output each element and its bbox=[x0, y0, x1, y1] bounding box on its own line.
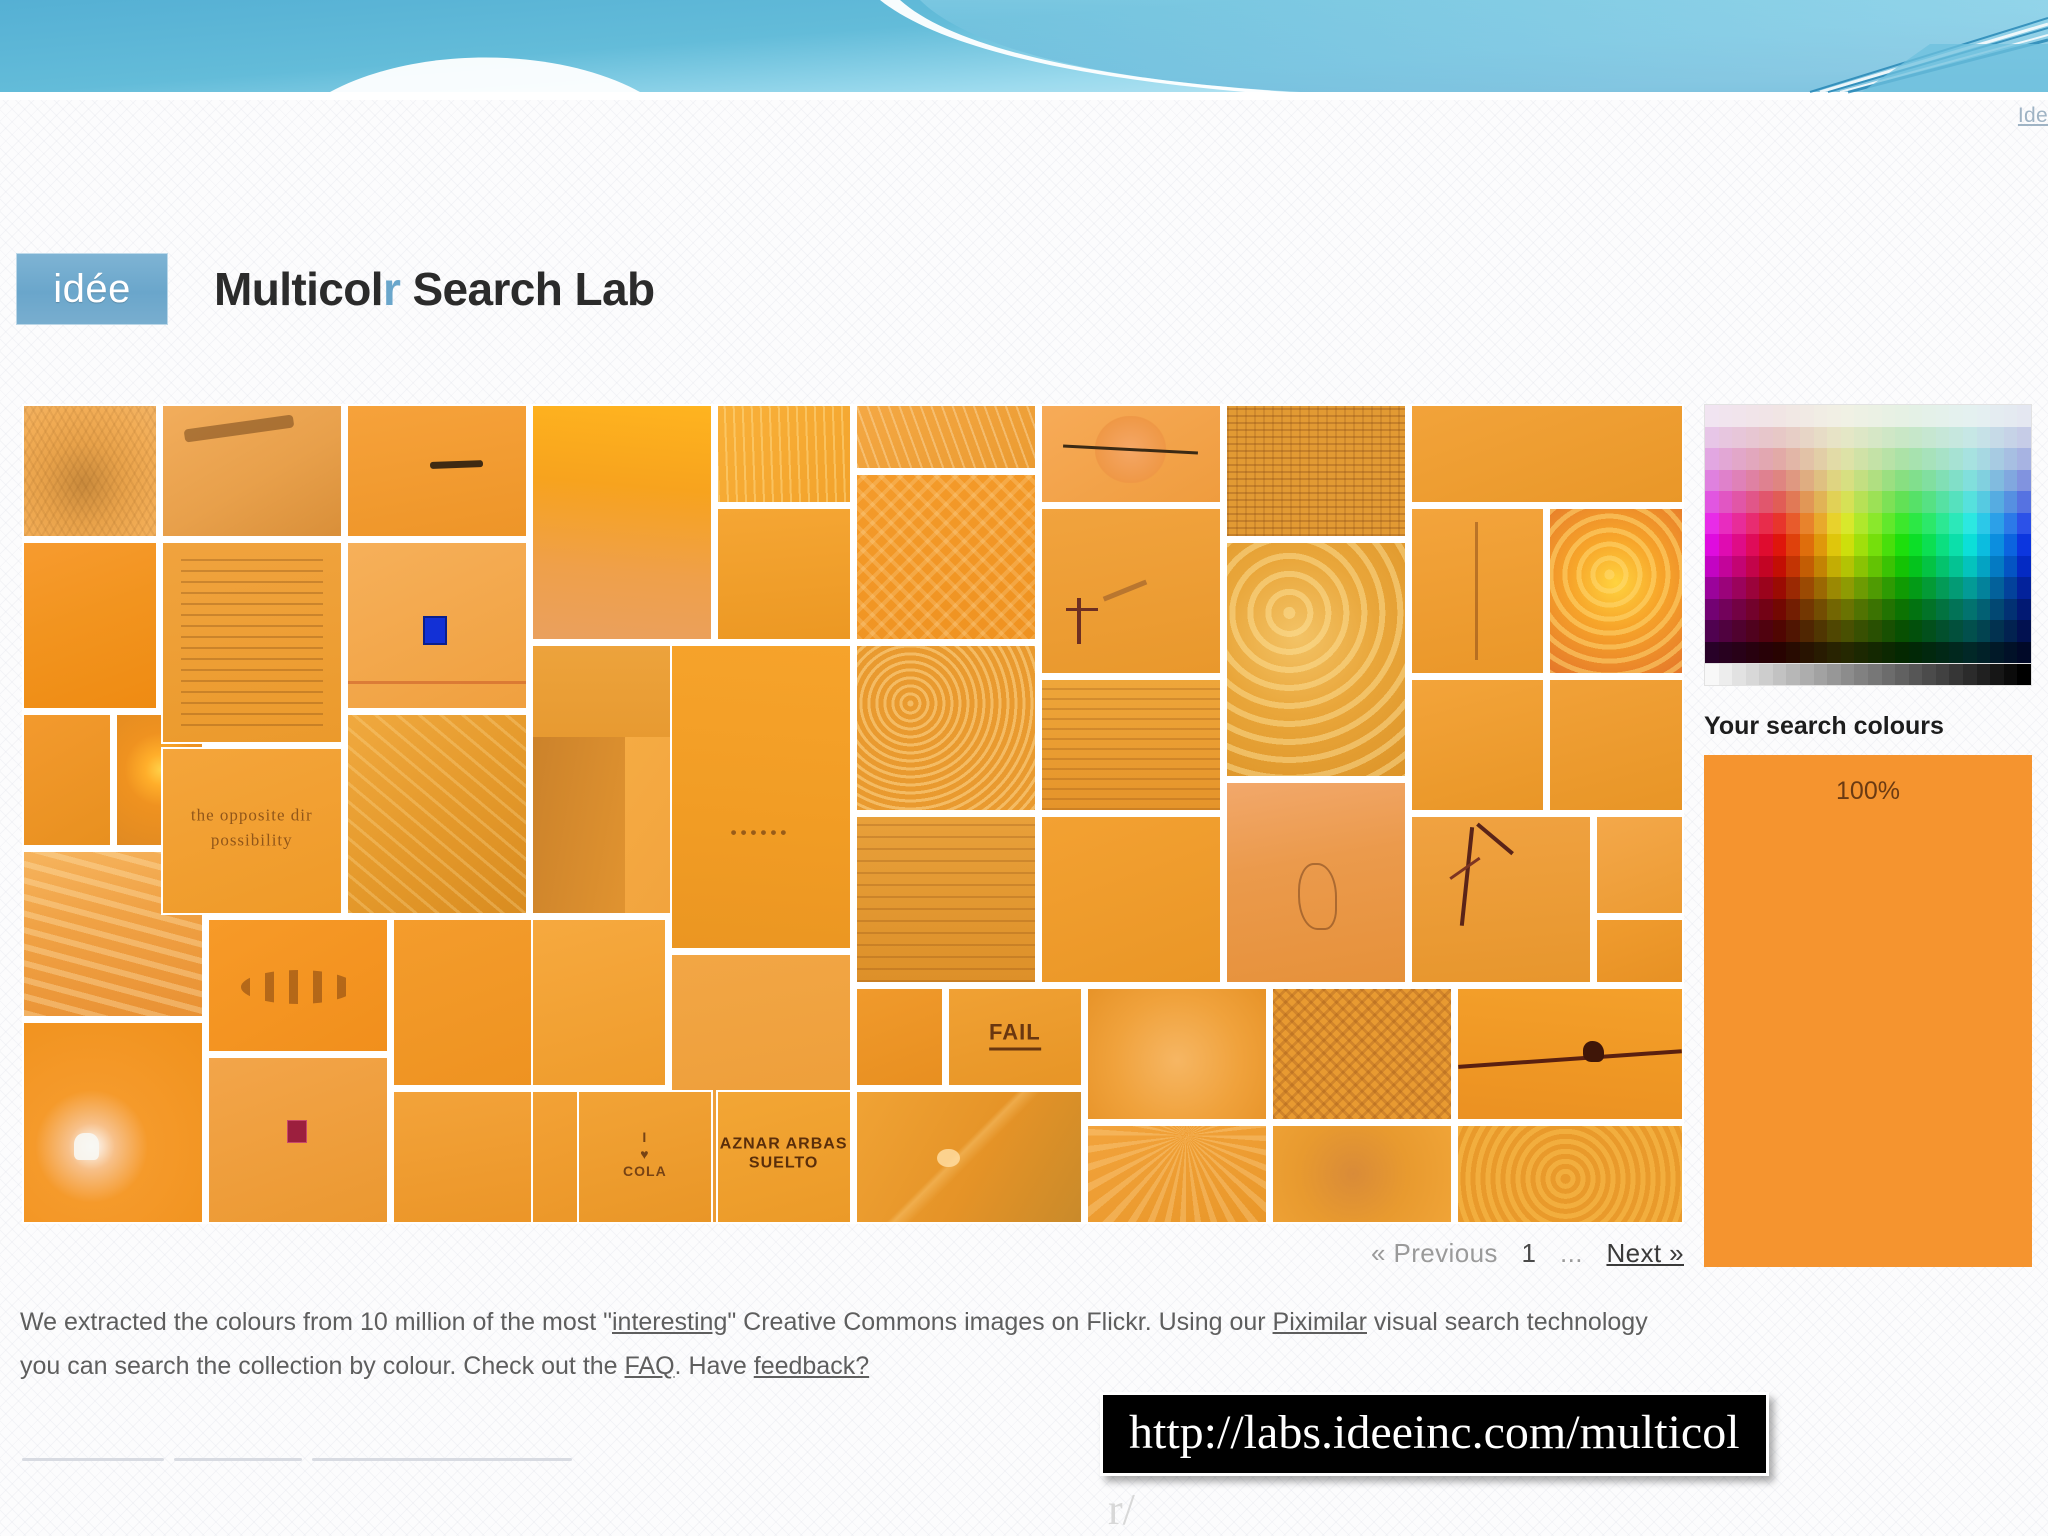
palette-swatch[interactable] bbox=[1841, 642, 1855, 664]
palette-swatch[interactable] bbox=[1854, 405, 1868, 427]
palette-swatch[interactable] bbox=[1786, 577, 1800, 599]
palette-swatch[interactable] bbox=[1854, 448, 1868, 470]
palette-swatch[interactable] bbox=[1814, 405, 1828, 427]
palette-swatch[interactable] bbox=[2004, 405, 2018, 427]
palette-swatch[interactable] bbox=[1868, 448, 1882, 470]
palette-swatch[interactable] bbox=[1786, 642, 1800, 664]
palette-swatch[interactable] bbox=[1936, 577, 1950, 599]
palette-swatch[interactable] bbox=[1759, 577, 1773, 599]
result-tile[interactable] bbox=[1410, 404, 1685, 504]
palette-swatch[interactable] bbox=[1786, 534, 1800, 556]
palette-swatch[interactable] bbox=[1936, 427, 1950, 449]
palette-swatch[interactable] bbox=[1841, 405, 1855, 427]
palette-swatch[interactable] bbox=[1963, 534, 1977, 556]
palette-swatch[interactable] bbox=[1977, 556, 1991, 578]
palette-swatch[interactable] bbox=[1868, 642, 1882, 664]
palette-swatch[interactable] bbox=[1882, 577, 1896, 599]
palette-swatch[interactable] bbox=[1909, 577, 1923, 599]
palette-swatch[interactable] bbox=[1854, 491, 1868, 513]
palette-swatch[interactable] bbox=[1936, 513, 1950, 535]
result-tile[interactable] bbox=[1040, 507, 1222, 675]
palette-swatch[interactable] bbox=[1854, 556, 1868, 578]
palette-swatch[interactable] bbox=[1841, 491, 1855, 513]
gray-swatch[interactable] bbox=[1732, 664, 1746, 685]
palette-swatch[interactable] bbox=[1936, 448, 1950, 470]
palette-swatch[interactable] bbox=[1841, 620, 1855, 642]
palette-swatch[interactable] bbox=[1868, 599, 1882, 621]
palette-swatch[interactable] bbox=[1719, 599, 1733, 621]
palette-swatch[interactable] bbox=[1732, 448, 1746, 470]
result-tile[interactable] bbox=[22, 713, 112, 847]
gray-swatch[interactable] bbox=[1705, 664, 1719, 685]
palette-swatch[interactable] bbox=[1909, 491, 1923, 513]
palette-swatch[interactable] bbox=[1773, 620, 1787, 642]
palette-swatch[interactable] bbox=[2004, 427, 2018, 449]
palette-swatch[interactable] bbox=[1990, 491, 2004, 513]
palette-swatch[interactable] bbox=[2017, 513, 2031, 535]
palette-swatch[interactable] bbox=[1922, 470, 1936, 492]
palette-swatch[interactable] bbox=[1773, 556, 1787, 578]
result-tile[interactable]: FAIL bbox=[947, 987, 1083, 1087]
palette-swatch[interactable] bbox=[1827, 620, 1841, 642]
palette-swatch[interactable] bbox=[1936, 534, 1950, 556]
palette-swatch[interactable] bbox=[1963, 405, 1977, 427]
palette-swatch[interactable] bbox=[1800, 448, 1814, 470]
palette-swatch[interactable] bbox=[1719, 491, 1733, 513]
result-tile[interactable] bbox=[855, 473, 1037, 641]
palette-swatch[interactable] bbox=[1909, 470, 1923, 492]
palette-swatch[interactable] bbox=[1827, 448, 1841, 470]
palette-swatch[interactable] bbox=[1786, 448, 1800, 470]
palette-swatch[interactable] bbox=[1868, 491, 1882, 513]
palette-swatch[interactable] bbox=[1841, 513, 1855, 535]
palette-swatch[interactable] bbox=[1990, 427, 2004, 449]
palette-swatch[interactable] bbox=[1895, 470, 1909, 492]
palette-swatch[interactable] bbox=[1949, 556, 1963, 578]
result-tile[interactable] bbox=[1040, 815, 1222, 983]
palette-swatch[interactable] bbox=[1746, 448, 1760, 470]
result-tile[interactable] bbox=[207, 918, 389, 1052]
palette-swatch[interactable] bbox=[1882, 448, 1896, 470]
palette-swatch[interactable] bbox=[1800, 642, 1814, 664]
palette-swatch[interactable] bbox=[1868, 405, 1882, 427]
palette-swatch[interactable] bbox=[1759, 405, 1773, 427]
palette-swatch[interactable] bbox=[2017, 620, 2031, 642]
palette-swatch[interactable] bbox=[1719, 620, 1733, 642]
palette-swatch[interactable] bbox=[1854, 577, 1868, 599]
gray-swatch[interactable] bbox=[2017, 664, 2031, 685]
result-tile[interactable]: the opposite dir possibility bbox=[161, 747, 343, 915]
topright-cutoff-link[interactable]: Ide bbox=[2018, 104, 2048, 128]
palette-swatch[interactable] bbox=[1759, 470, 1773, 492]
result-tile[interactable] bbox=[22, 541, 158, 709]
palette-swatch[interactable] bbox=[1909, 599, 1923, 621]
palette-swatch[interactable] bbox=[1882, 642, 1896, 664]
result-tile[interactable] bbox=[161, 404, 343, 538]
palette-swatch[interactable] bbox=[1868, 470, 1882, 492]
palette-swatch[interactable] bbox=[1909, 642, 1923, 664]
palette-swatch[interactable] bbox=[1895, 427, 1909, 449]
gray-swatch[interactable] bbox=[1963, 664, 1977, 685]
palette-swatch[interactable] bbox=[1841, 556, 1855, 578]
palette-swatch[interactable] bbox=[1895, 620, 1909, 642]
palette-swatch[interactable] bbox=[1814, 470, 1828, 492]
result-tile[interactable] bbox=[1271, 987, 1453, 1121]
palette-swatch[interactable] bbox=[1719, 556, 1733, 578]
palette-swatch[interactable] bbox=[1990, 577, 2004, 599]
palette-swatch[interactable] bbox=[1800, 577, 1814, 599]
palette-swatch[interactable] bbox=[1963, 491, 1977, 513]
palette-swatch[interactable] bbox=[1949, 534, 1963, 556]
palette-swatch[interactable] bbox=[1895, 448, 1909, 470]
palette-swatch[interactable] bbox=[1949, 513, 1963, 535]
link-feedback[interactable]: feedback? bbox=[754, 1352, 869, 1380]
gray-swatch[interactable] bbox=[1977, 664, 1991, 685]
palette-swatch[interactable] bbox=[1773, 642, 1787, 664]
palette-swatch[interactable] bbox=[1827, 427, 1841, 449]
palette-swatch[interactable] bbox=[1732, 405, 1746, 427]
palette-swatch[interactable] bbox=[1854, 599, 1868, 621]
palette-swatch[interactable] bbox=[1827, 599, 1841, 621]
palette-swatch[interactable] bbox=[2017, 470, 2031, 492]
palette-swatch[interactable] bbox=[1841, 599, 1855, 621]
palette-swatch[interactable] bbox=[1759, 534, 1773, 556]
palette-swatch[interactable] bbox=[1732, 534, 1746, 556]
palette-swatch[interactable] bbox=[1909, 534, 1923, 556]
result-tile[interactable] bbox=[1410, 678, 1546, 812]
palette-swatch[interactable] bbox=[1786, 491, 1800, 513]
gray-swatch[interactable] bbox=[1719, 664, 1733, 685]
link-piximilar[interactable]: Piximilar bbox=[1273, 1308, 1367, 1336]
idee-logo[interactable]: idée bbox=[16, 253, 168, 325]
palette-swatch[interactable] bbox=[1773, 534, 1787, 556]
result-tile[interactable] bbox=[855, 987, 945, 1087]
palette-swatch[interactable] bbox=[1746, 513, 1760, 535]
palette-swatch[interactable] bbox=[1759, 448, 1773, 470]
palette-swatch[interactable] bbox=[2017, 577, 2031, 599]
gray-swatch[interactable] bbox=[1936, 664, 1950, 685]
palette-swatch[interactable] bbox=[1990, 405, 2004, 427]
palette-swatch[interactable] bbox=[1732, 491, 1746, 513]
palette-swatch[interactable] bbox=[2004, 534, 2018, 556]
result-tile[interactable] bbox=[1225, 781, 1407, 984]
result-tile[interactable] bbox=[161, 541, 343, 744]
result-tile[interactable] bbox=[1548, 507, 1684, 675]
palette-swatch[interactable] bbox=[2004, 556, 2018, 578]
gray-swatch[interactable] bbox=[1882, 664, 1896, 685]
palette-swatch[interactable] bbox=[1800, 405, 1814, 427]
palette-swatch[interactable] bbox=[1963, 556, 1977, 578]
palette-swatch[interactable] bbox=[1977, 599, 1991, 621]
palette-swatch[interactable] bbox=[1705, 448, 1719, 470]
result-tile[interactable] bbox=[1225, 404, 1407, 538]
palette-swatch[interactable] bbox=[1746, 470, 1760, 492]
palette-swatch[interactable] bbox=[1990, 642, 2004, 664]
palette-swatch[interactable] bbox=[1800, 534, 1814, 556]
palette-swatch[interactable] bbox=[1732, 556, 1746, 578]
palette-swatch[interactable] bbox=[1895, 405, 1909, 427]
palette-swatch[interactable] bbox=[1977, 534, 1991, 556]
palette-swatch[interactable] bbox=[1977, 513, 1991, 535]
palette-swatch[interactable] bbox=[1949, 405, 1963, 427]
palette-swatch[interactable] bbox=[1949, 620, 1963, 642]
palette-swatch[interactable] bbox=[1705, 470, 1719, 492]
palette-swatch[interactable] bbox=[1895, 599, 1909, 621]
palette-swatch[interactable] bbox=[1909, 448, 1923, 470]
palette-swatch[interactable] bbox=[1719, 470, 1733, 492]
gray-swatch[interactable] bbox=[1786, 664, 1800, 685]
palette-swatch[interactable] bbox=[1854, 620, 1868, 642]
palette-swatch[interactable] bbox=[1868, 556, 1882, 578]
palette-swatch[interactable] bbox=[1895, 513, 1909, 535]
palette-swatch[interactable] bbox=[1759, 513, 1773, 535]
palette-swatch[interactable] bbox=[2004, 642, 2018, 664]
palette-swatch[interactable] bbox=[1949, 491, 1963, 513]
grayscale-strip[interactable] bbox=[1704, 664, 2032, 686]
result-tile[interactable] bbox=[1595, 815, 1685, 915]
result-tile[interactable] bbox=[1040, 404, 1222, 504]
palette-swatch[interactable] bbox=[1732, 620, 1746, 642]
palette-swatch[interactable] bbox=[1732, 599, 1746, 621]
result-tile[interactable] bbox=[716, 404, 852, 504]
palette-swatch[interactable] bbox=[1977, 470, 1991, 492]
palette-swatch[interactable] bbox=[1922, 448, 1936, 470]
palette-swatch[interactable] bbox=[1719, 427, 1733, 449]
palette-swatch[interactable] bbox=[1882, 405, 1896, 427]
palette-swatch[interactable] bbox=[1759, 642, 1773, 664]
palette-swatch[interactable] bbox=[1800, 556, 1814, 578]
palette-swatch[interactable] bbox=[1990, 513, 2004, 535]
palette-swatch[interactable] bbox=[1868, 513, 1882, 535]
result-tile[interactable] bbox=[855, 1090, 1083, 1224]
result-tile[interactable] bbox=[1456, 987, 1684, 1121]
gray-swatch[interactable] bbox=[1949, 664, 1963, 685]
palette-swatch[interactable] bbox=[1814, 534, 1828, 556]
result-tile[interactable]: •••••• bbox=[670, 644, 852, 950]
palette-swatch[interactable] bbox=[1868, 620, 1882, 642]
gray-swatch[interactable] bbox=[1814, 664, 1828, 685]
palette-swatch[interactable] bbox=[1882, 491, 1896, 513]
palette-swatch[interactable] bbox=[1909, 620, 1923, 642]
palette-swatch[interactable] bbox=[1936, 642, 1950, 664]
palette-swatch[interactable] bbox=[2017, 448, 2031, 470]
gray-swatch[interactable] bbox=[1759, 664, 1773, 685]
palette-swatch[interactable] bbox=[1746, 491, 1760, 513]
result-tile[interactable] bbox=[1595, 918, 1685, 984]
palette-swatch[interactable] bbox=[1882, 556, 1896, 578]
result-tile[interactable]: I ♥ COLA bbox=[577, 1090, 713, 1224]
palette-swatch[interactable] bbox=[1963, 599, 1977, 621]
palette-swatch[interactable] bbox=[1854, 642, 1868, 664]
palette-swatch[interactable] bbox=[1868, 427, 1882, 449]
palette-swatch[interactable] bbox=[1963, 577, 1977, 599]
result-tile[interactable] bbox=[855, 404, 1037, 470]
gray-swatch[interactable] bbox=[1827, 664, 1841, 685]
palette-swatch[interactable] bbox=[1732, 642, 1746, 664]
palette-swatch[interactable] bbox=[1786, 620, 1800, 642]
palette-swatch[interactable] bbox=[1746, 427, 1760, 449]
palette-swatch[interactable] bbox=[2004, 599, 2018, 621]
palette-swatch[interactable] bbox=[1800, 427, 1814, 449]
gray-swatch[interactable] bbox=[2004, 664, 2018, 685]
palette-swatch[interactable] bbox=[1936, 599, 1950, 621]
palette-swatch[interactable] bbox=[1936, 491, 1950, 513]
palette-swatch[interactable] bbox=[1705, 491, 1719, 513]
palette-swatch[interactable] bbox=[2017, 491, 2031, 513]
palette-swatch[interactable] bbox=[1909, 513, 1923, 535]
palette-swatch[interactable] bbox=[1936, 620, 1950, 642]
gray-swatch[interactable] bbox=[1990, 664, 2004, 685]
palette-swatch[interactable] bbox=[1922, 513, 1936, 535]
palette-swatch[interactable] bbox=[1936, 556, 1950, 578]
palette-swatch[interactable] bbox=[1977, 405, 1991, 427]
palette-swatch[interactable] bbox=[1773, 448, 1787, 470]
result-tile[interactable] bbox=[716, 507, 852, 641]
palette-swatch[interactable] bbox=[1909, 556, 1923, 578]
palette-swatch[interactable] bbox=[1949, 427, 1963, 449]
result-tile[interactable] bbox=[207, 1056, 389, 1224]
palette-swatch[interactable] bbox=[1705, 642, 1719, 664]
palette-swatch[interactable] bbox=[1773, 491, 1787, 513]
palette-swatch[interactable] bbox=[1909, 427, 1923, 449]
palette-swatch[interactable] bbox=[1814, 427, 1828, 449]
palette-swatch[interactable] bbox=[1800, 513, 1814, 535]
palette-swatch[interactable] bbox=[1773, 427, 1787, 449]
palette-swatch[interactable] bbox=[1882, 620, 1896, 642]
palette-swatch[interactable] bbox=[1746, 556, 1760, 578]
palette-swatch[interactable] bbox=[1705, 427, 1719, 449]
palette-swatch[interactable] bbox=[1936, 405, 1950, 427]
palette-swatch[interactable] bbox=[1977, 577, 1991, 599]
result-tile[interactable] bbox=[1086, 987, 1268, 1121]
result-tile[interactable] bbox=[1456, 1124, 1684, 1224]
palette-swatch[interactable] bbox=[1705, 534, 1719, 556]
colour-palette-picker[interactable] bbox=[1704, 404, 2032, 664]
palette-swatch[interactable] bbox=[1814, 577, 1828, 599]
palette-swatch[interactable] bbox=[2017, 427, 2031, 449]
palette-swatch[interactable] bbox=[1786, 470, 1800, 492]
palette-swatch[interactable] bbox=[1759, 599, 1773, 621]
pagination-previous[interactable]: « Previous bbox=[1371, 1238, 1498, 1268]
palette-swatch[interactable] bbox=[1882, 599, 1896, 621]
palette-swatch[interactable] bbox=[1841, 470, 1855, 492]
palette-swatch[interactable] bbox=[1949, 470, 1963, 492]
palette-swatch[interactable] bbox=[1746, 577, 1760, 599]
gray-swatch[interactable] bbox=[1773, 664, 1787, 685]
palette-swatch[interactable] bbox=[1705, 556, 1719, 578]
result-tile[interactable] bbox=[22, 404, 158, 538]
result-tile[interactable] bbox=[531, 918, 667, 1086]
palette-swatch[interactable] bbox=[1827, 577, 1841, 599]
palette-swatch[interactable] bbox=[1705, 599, 1719, 621]
palette-swatch[interactable] bbox=[1963, 513, 1977, 535]
palette-swatch[interactable] bbox=[1854, 513, 1868, 535]
palette-swatch[interactable] bbox=[1786, 556, 1800, 578]
palette-swatch[interactable] bbox=[1909, 405, 1923, 427]
gray-swatch[interactable] bbox=[1800, 664, 1814, 685]
palette-swatch[interactable] bbox=[1759, 491, 1773, 513]
palette-swatch[interactable] bbox=[1746, 642, 1760, 664]
palette-swatch[interactable] bbox=[2017, 642, 2031, 664]
result-tile[interactable] bbox=[346, 541, 528, 709]
result-tile[interactable] bbox=[1410, 507, 1546, 675]
palette-swatch[interactable] bbox=[1759, 556, 1773, 578]
palette-swatch[interactable] bbox=[1705, 620, 1719, 642]
result-tile[interactable] bbox=[1225, 541, 1407, 778]
result-tile[interactable] bbox=[346, 404, 528, 538]
palette-swatch[interactable] bbox=[2004, 448, 2018, 470]
palette-swatch[interactable] bbox=[1827, 556, 1841, 578]
palette-swatch[interactable] bbox=[1827, 405, 1841, 427]
palette-swatch[interactable] bbox=[1814, 642, 1828, 664]
palette-swatch[interactable] bbox=[1746, 534, 1760, 556]
palette-swatch[interactable] bbox=[1922, 534, 1936, 556]
palette-swatch[interactable] bbox=[1949, 642, 1963, 664]
palette-swatch[interactable] bbox=[1949, 448, 1963, 470]
palette-swatch[interactable] bbox=[1719, 513, 1733, 535]
palette-swatch[interactable] bbox=[1882, 513, 1896, 535]
gray-swatch[interactable] bbox=[1922, 664, 1936, 685]
palette-swatch[interactable] bbox=[1719, 405, 1733, 427]
palette-swatch[interactable] bbox=[1922, 556, 1936, 578]
palette-swatch[interactable] bbox=[2017, 556, 2031, 578]
palette-swatch[interactable] bbox=[1827, 470, 1841, 492]
palette-swatch[interactable] bbox=[1814, 513, 1828, 535]
result-tile[interactable] bbox=[855, 815, 1037, 983]
palette-swatch[interactable] bbox=[1746, 620, 1760, 642]
palette-swatch[interactable] bbox=[1977, 642, 1991, 664]
result-tile[interactable] bbox=[22, 1021, 204, 1224]
palette-swatch[interactable] bbox=[1990, 599, 2004, 621]
palette-swatch[interactable] bbox=[1814, 491, 1828, 513]
palette-swatch[interactable] bbox=[1882, 534, 1896, 556]
gray-swatch[interactable] bbox=[1746, 664, 1760, 685]
palette-swatch[interactable] bbox=[1800, 491, 1814, 513]
palette-swatch[interactable] bbox=[1732, 470, 1746, 492]
palette-swatch[interactable] bbox=[1827, 642, 1841, 664]
palette-swatch[interactable] bbox=[1895, 534, 1909, 556]
palette-swatch[interactable] bbox=[1963, 470, 1977, 492]
palette-swatch[interactable] bbox=[1922, 577, 1936, 599]
palette-swatch[interactable] bbox=[1922, 491, 1936, 513]
palette-swatch[interactable] bbox=[1814, 599, 1828, 621]
palette-swatch[interactable] bbox=[1786, 427, 1800, 449]
palette-swatch[interactable] bbox=[1977, 620, 1991, 642]
palette-swatch[interactable] bbox=[1746, 405, 1760, 427]
palette-swatch[interactable] bbox=[2017, 599, 2031, 621]
palette-swatch[interactable] bbox=[1949, 599, 1963, 621]
gray-swatch[interactable] bbox=[1909, 664, 1923, 685]
selected-colour-swatch[interactable]: 100% bbox=[1704, 755, 2032, 1267]
result-tile[interactable] bbox=[855, 644, 1037, 812]
palette-swatch[interactable] bbox=[1773, 470, 1787, 492]
palette-swatch[interactable] bbox=[1922, 642, 1936, 664]
palette-swatch[interactable] bbox=[1814, 556, 1828, 578]
result-tile[interactable] bbox=[1086, 1124, 1268, 1224]
result-tile[interactable] bbox=[1548, 678, 1684, 812]
palette-swatch[interactable] bbox=[1841, 577, 1855, 599]
palette-swatch[interactable] bbox=[1895, 577, 1909, 599]
palette-swatch[interactable] bbox=[1882, 427, 1896, 449]
palette-swatch[interactable] bbox=[1719, 642, 1733, 664]
result-tile[interactable] bbox=[346, 713, 528, 916]
link-interesting[interactable]: interesting bbox=[612, 1308, 727, 1336]
palette-swatch[interactable] bbox=[1841, 448, 1855, 470]
palette-swatch[interactable] bbox=[2017, 405, 2031, 427]
palette-swatch[interactable] bbox=[2017, 534, 2031, 556]
palette-swatch[interactable] bbox=[1732, 577, 1746, 599]
palette-swatch[interactable] bbox=[1719, 448, 1733, 470]
